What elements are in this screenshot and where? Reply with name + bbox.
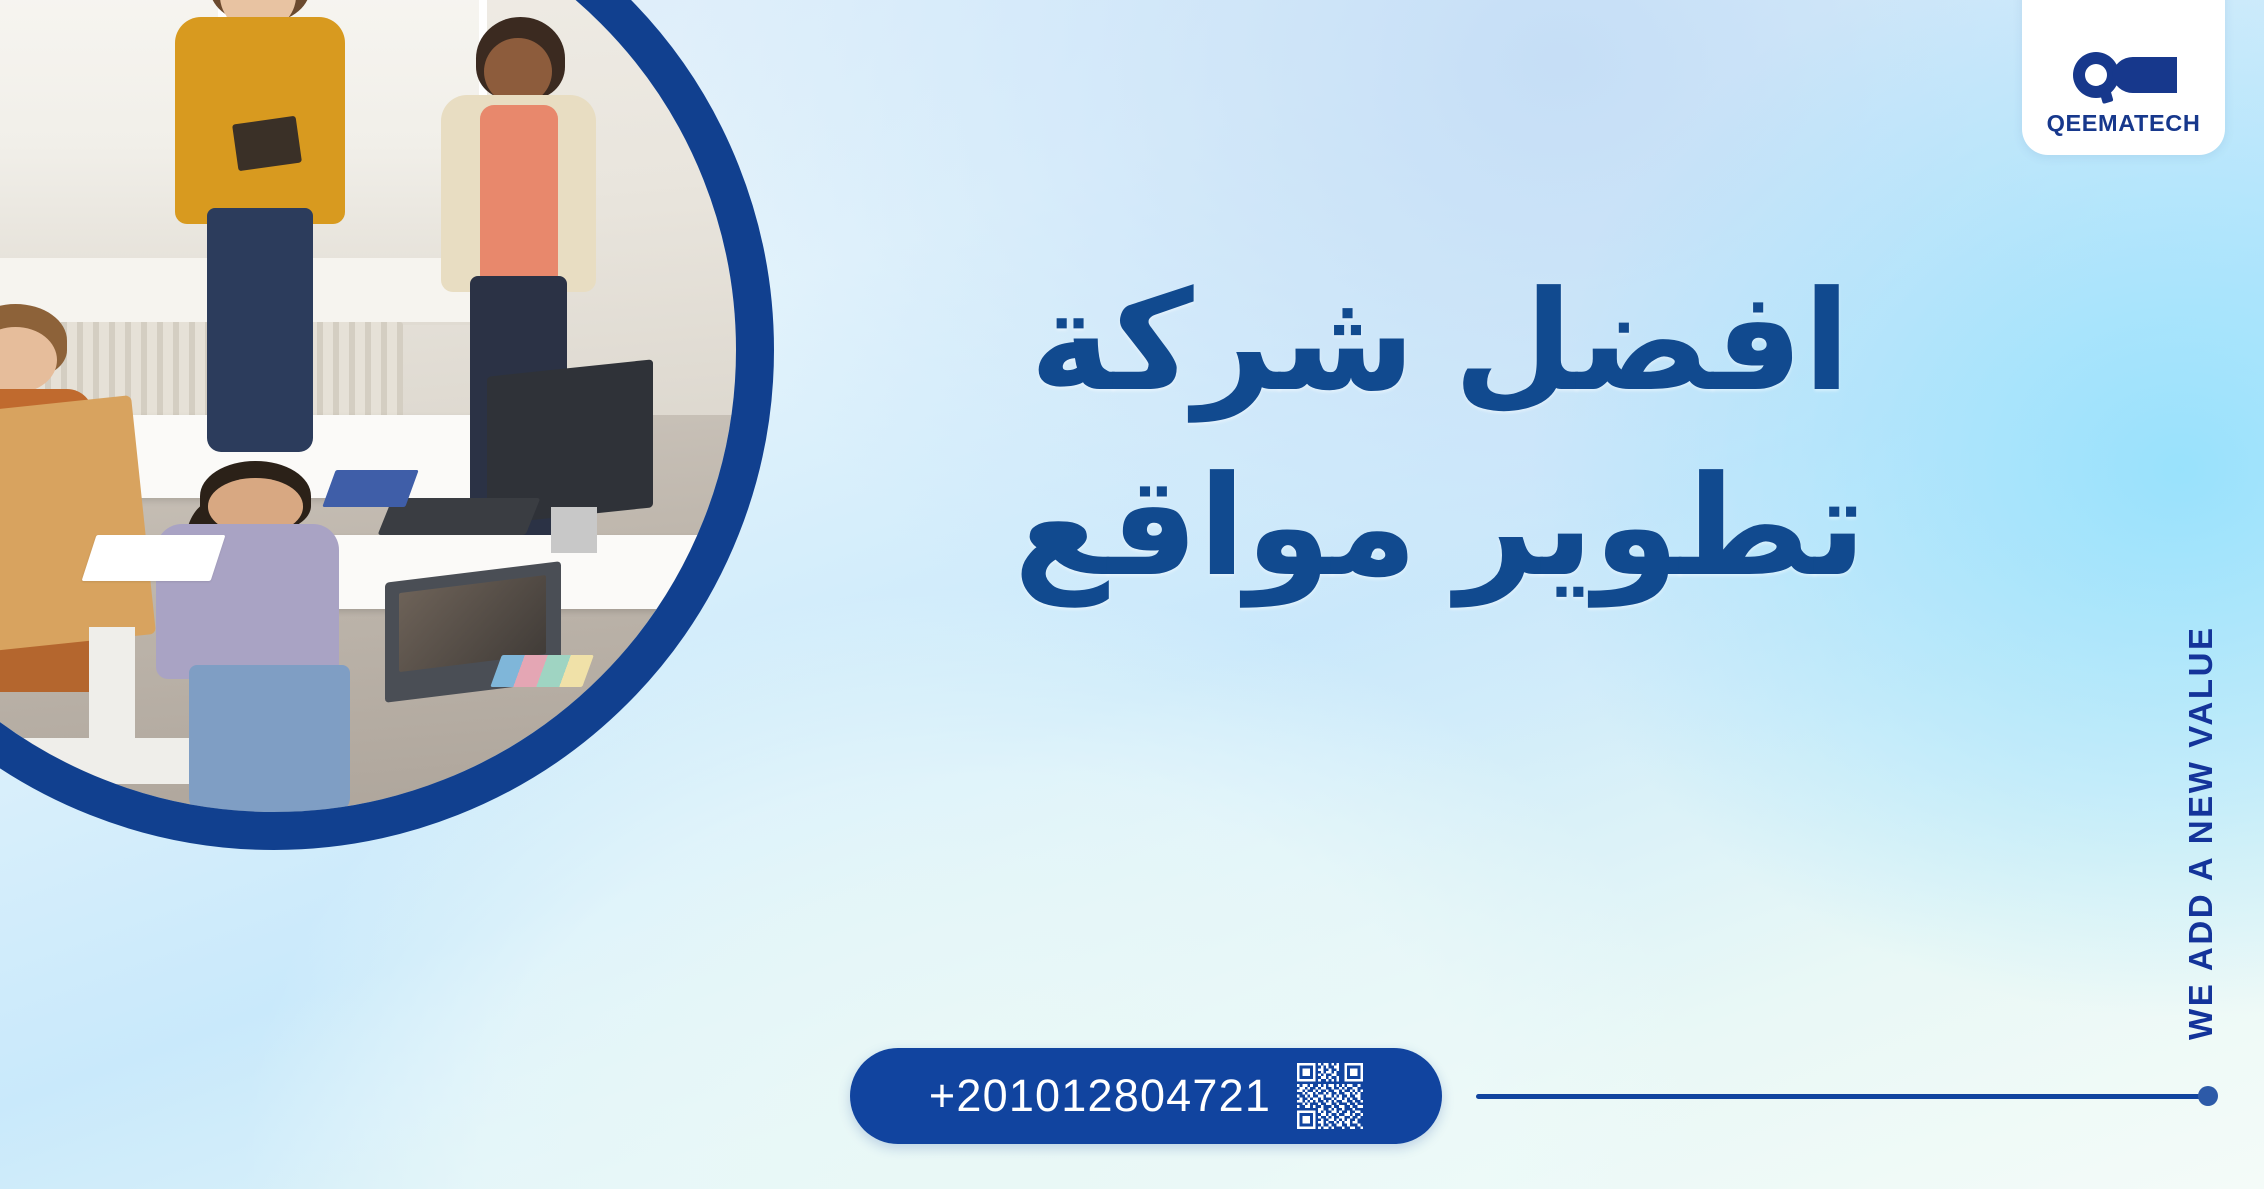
brand-logo-card: QEEMATECH	[2022, 0, 2225, 155]
divider-line	[1476, 1094, 2206, 1099]
qr-code-icon[interactable]	[1297, 1063, 1363, 1129]
phone-number: +201012804721	[929, 1070, 1271, 1122]
headline-line-1: افضل شركة	[880, 250, 2000, 435]
divider-end-dot	[2198, 1086, 2218, 1106]
team-photo-circle	[0, 0, 774, 850]
promo-banner: QEEMATECH افضل شركة تطوير مواقع +2010128…	[0, 0, 2264, 1189]
brand-tagline: WE ADD A NEW VALUE	[2182, 625, 2220, 1040]
qg-monogram-icon	[2065, 44, 2183, 106]
phone-contact-pill[interactable]: +201012804721	[850, 1048, 1442, 1144]
brand-wordmark: QEEMATECH	[2047, 112, 2201, 136]
page-title: افضل شركة تطوير مواقع	[880, 250, 2000, 620]
headline-line-2: تطوير مواقع	[880, 435, 2000, 620]
